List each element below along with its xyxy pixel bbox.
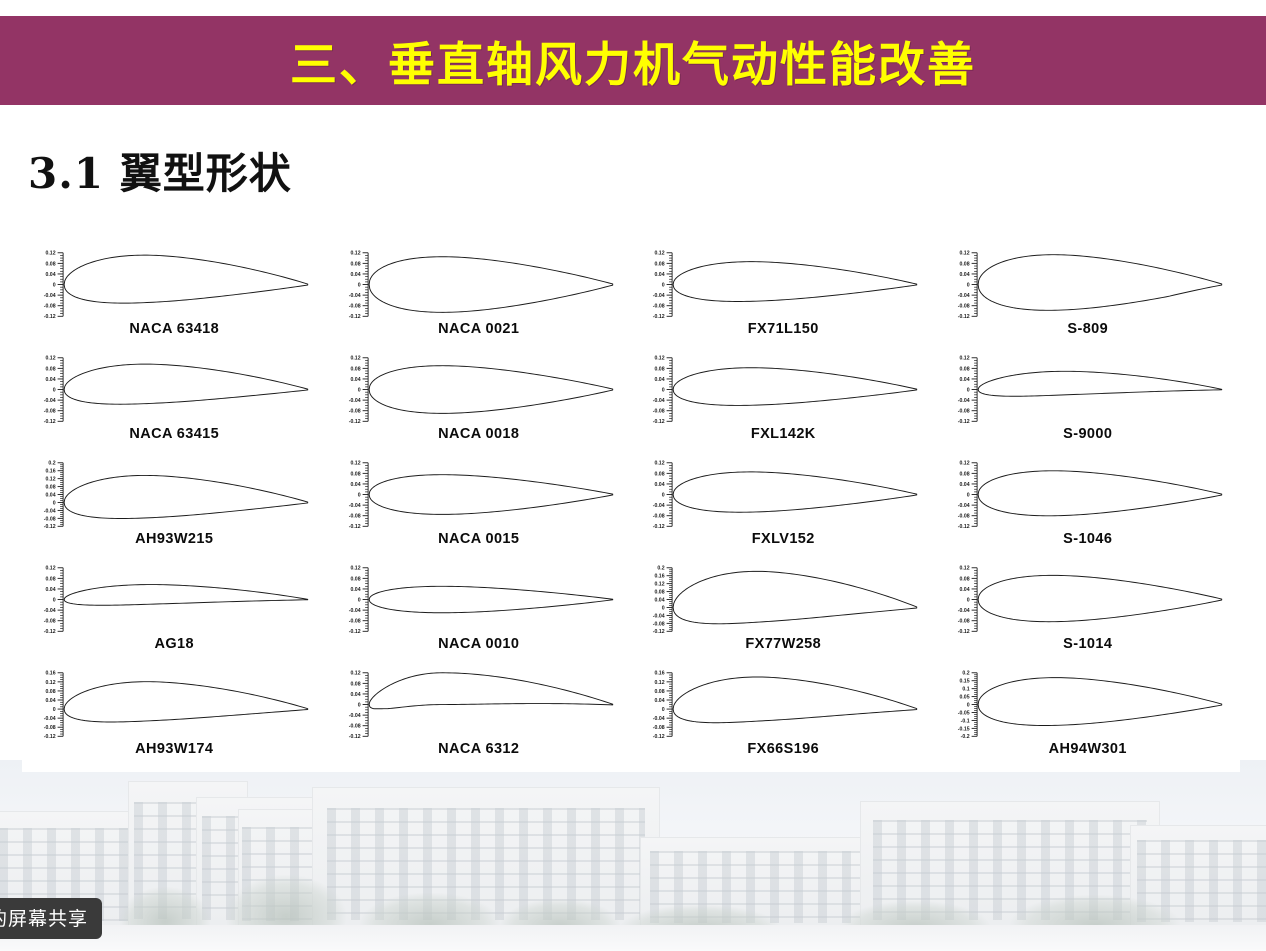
y-axis-tick-label: -0.12 [957,314,969,320]
airfoil-outline [673,571,917,623]
y-axis-tick-label: 0.08 [45,261,55,267]
y-axis-tick-label: -0.04 [44,508,56,514]
airfoil-name-label: AH93W174 [22,741,327,757]
y-axis-tick-label: 0.16 [45,671,55,677]
airfoil-outline [978,471,1222,516]
y-axis-tick-label: -0.04 [348,293,360,299]
y-axis-tick-label: 0 [966,387,969,393]
y-axis-tick-label: -0.04 [44,716,56,722]
y-axis-tick-label: -0.08 [653,725,665,731]
airfoil-name-label: FX77W258 [631,636,936,652]
y-axis-tick-label: 0.04 [654,482,664,488]
y-axis-tick-label: 0.12 [350,356,360,362]
y-axis-tick-label: 0.2 [657,566,664,572]
y-axis-tick-label: 0.04 [350,587,360,593]
y-axis-tick-label: 0.08 [654,589,664,595]
airfoil-outline [369,586,613,612]
y-axis-tick-label: -0.04 [44,608,56,614]
y-axis-tick-label: 0.08 [45,366,55,372]
airfoil-name-label: AG18 [22,636,327,652]
airfoil-outline [978,678,1222,726]
y-axis-tick-label: 0.08 [959,576,969,582]
y-axis-tick-label: -0.04 [653,293,665,299]
airfoil-plot: 0.20.160.120.080.040-0.04-0.08-0.12AH93W… [22,457,327,562]
y-axis-tick-label: 0.12 [959,566,969,572]
y-axis-tick-label: 0.08 [45,484,55,490]
y-axis-tick-label: -0.08 [44,409,56,415]
y-axis-tick-label: 0.08 [959,366,969,372]
y-axis-tick-label: -0.15 [957,726,969,732]
airfoil-name-label: NACA 0018 [327,426,632,442]
y-axis-tick-label: 0.12 [959,461,969,467]
y-axis-tick-label: -0.08 [957,304,969,310]
y-axis-tick-label: -0.05 [957,710,969,716]
y-axis-tick-label: -0.12 [653,629,665,635]
y-axis-tick-label: 0.12 [350,566,360,572]
y-axis-tick-label: 0.12 [654,582,664,588]
y-axis-tick-label: -0.04 [44,398,56,404]
airfoil-plot: 0.160.120.080.040-0.04-0.08-0.12AH93W174 [22,667,327,772]
y-axis-tick-label: -0.12 [348,629,360,635]
airfoil-outline [673,472,917,512]
y-axis-tick-label: 0.04 [959,587,969,593]
airfoil-name-label: S-1014 [936,636,1241,652]
airfoil-plot: 0.120.080.040-0.04-0.08-0.12AG18 [22,562,327,667]
y-axis-tick-label: -0.12 [44,629,56,635]
y-axis-tick-label: 0 [357,387,360,393]
y-axis-tick-label: -0.08 [44,304,56,310]
airfoil-name-label: AH94W301 [936,741,1241,757]
y-axis-tick-label: 0.04 [654,698,664,704]
y-axis-tick-label: -0.12 [44,524,56,530]
y-axis-tick-label: -0.12 [348,734,360,740]
y-axis-tick-label: 0 [53,282,56,288]
y-axis-tick-label: -0.12 [44,314,56,320]
y-axis-tick-label: -0.04 [653,398,665,404]
y-axis-tick-label: 0 [662,492,665,498]
y-axis-tick-label: 0.12 [45,477,55,483]
y-axis-tick-label: -0.08 [348,514,360,520]
y-axis-tick-label: -0.08 [348,724,360,730]
airfoil-name-label: FX66S196 [631,741,936,757]
y-axis-tick-label: -0.04 [348,398,360,404]
y-axis-tick-label: 0.08 [350,681,360,687]
y-axis-tick-label: 0.08 [45,576,55,582]
y-axis-tick-label: 0.04 [350,692,360,698]
airfoil-plot: 0.120.080.040-0.04-0.08-0.12FX71L150 [631,247,936,352]
y-axis-tick-label: 0 [357,282,360,288]
y-axis-tick-label: 0.08 [350,576,360,582]
y-axis-tick-label: -0.08 [44,619,56,625]
airfoil-outline [64,585,308,606]
airfoil-outline [978,371,1222,396]
y-axis-tick-label: 0 [662,707,665,713]
y-axis-tick-label: 0.12 [350,671,360,677]
y-axis-tick-label: 0.12 [45,680,55,686]
y-axis-tick-label: 0.04 [45,587,55,593]
y-axis-tick-label: -0.08 [957,619,969,625]
y-axis-tick-label: -0.04 [653,613,665,619]
y-axis-tick-label: -0.12 [44,734,56,740]
y-axis-tick-label: 0.12 [45,356,55,362]
y-axis-tick-label: 0.12 [959,251,969,257]
airfoil-name-label: NACA 63418 [22,321,327,337]
y-axis-tick-label: -0.04 [653,716,665,722]
y-axis-tick-label: 0 [966,702,969,708]
y-axis-tick-label: 0.08 [654,689,664,695]
screen-share-indicator: 电的屏幕共享 [0,898,102,939]
slide-title-banner: 三、垂直轴风力机气动性能改善 [0,16,1266,105]
airfoil-plot: 0.120.080.040-0.04-0.08-0.12NACA 6312 [327,667,632,772]
y-axis-tick-label: 0 [53,597,56,603]
airfoil-plot: 0.120.080.040-0.04-0.08-0.12S-9000 [936,352,1241,457]
y-axis-tick-label: 0.05 [959,694,969,700]
y-axis-tick-label: -0.08 [653,409,665,415]
y-axis-tick-label: -0.08 [957,409,969,415]
airfoil-plot: 0.120.080.040-0.04-0.08-0.12S-1014 [936,562,1241,667]
y-axis-tick-label: -0.04 [348,503,360,509]
airfoil-outline [673,677,917,723]
airfoil-plot: 0.120.080.040-0.04-0.08-0.12NACA 0021 [327,247,632,352]
y-axis-tick-label: -0.04 [957,293,969,299]
airfoil-name-label: NACA 0015 [327,531,632,547]
campus-photo-background: 电的屏幕共享 [0,760,1266,951]
airfoil-plot: 0.120.080.040-0.04-0.08-0.12NACA 0010 [327,562,632,667]
airfoil-figure-panel: 0.120.080.040-0.04-0.08-0.12NACA 634180.… [22,247,1240,772]
airfoil-plot: 0.120.080.040-0.04-0.08-0.12NACA 63415 [22,352,327,457]
y-axis-tick-label: 0 [357,492,360,498]
y-axis-tick-label: -0.12 [653,524,665,530]
y-axis-tick-label: 0.08 [959,261,969,267]
airfoil-outline [369,673,613,709]
y-axis-tick-label: -0.12 [653,734,665,740]
y-axis-tick-label: -0.12 [653,314,665,320]
y-axis-tick-label: 0.15 [959,679,969,685]
y-axis-tick-label: -0.08 [348,409,360,415]
y-axis-tick-label: -0.08 [44,725,56,731]
y-axis-tick-label: 0.08 [45,689,55,695]
airfoil-plot: 0.120.080.040-0.04-0.08-0.12FXLV152 [631,457,936,562]
y-axis-tick-label: -0.08 [348,619,360,625]
y-axis-tick-label: 0.04 [654,597,664,603]
y-axis-tick-label: 0.04 [45,272,55,278]
y-axis-tick-label: 0 [53,707,56,713]
y-axis-tick-label: -0.04 [348,713,360,719]
airfoil-plot: 0.120.080.040-0.04-0.08-0.12NACA 0018 [327,352,632,457]
y-axis-tick-label: -0.08 [653,514,665,520]
airfoil-name-label: NACA 0021 [327,321,632,337]
y-axis-tick-label: -0.12 [957,524,969,530]
y-axis-tick-label: -0.04 [348,608,360,614]
airfoil-name-label: FX71L150 [631,321,936,337]
airfoil-plot: 0.20.160.120.080.040-0.04-0.08-0.12FX77W… [631,562,936,667]
y-axis-tick-label: -0.2 [960,734,969,740]
airfoil-plot: 0.160.120.080.040-0.04-0.08-0.12FX66S196 [631,667,936,772]
y-axis-tick-label: 0.08 [654,261,664,267]
airfoil-name-label: FXLV152 [631,531,936,547]
airfoil-plot: 0.120.080.040-0.04-0.08-0.12NACA 0015 [327,457,632,562]
ground-strip [0,925,1266,951]
airfoil-name-label: S-1046 [936,531,1241,547]
airfoil-name-label: NACA 6312 [327,741,632,757]
y-axis-tick-label: 0.12 [350,251,360,257]
airfoil-plot: 0.20.150.10.050-0.05-0.1-0.15-0.2AH94W30… [936,667,1241,772]
y-axis-tick-label: 0.12 [654,251,664,257]
y-axis-tick-label: 0.08 [654,366,664,372]
y-axis-tick-label: 0.16 [654,574,664,580]
y-axis-tick-label: 0.2 [48,461,55,467]
y-axis-tick-label: -0.12 [653,419,665,425]
airfoil-outline [64,255,308,303]
y-axis-tick-label: 0.08 [350,366,360,372]
y-axis-tick-label: 0.12 [654,461,664,467]
airfoil-outline [673,262,917,302]
page-title: 三、垂直轴风力机气动性能改善 [290,26,976,95]
y-axis-tick-label: 0.04 [654,272,664,278]
y-axis-tick-label: 0 [966,492,969,498]
y-axis-tick-label: 0.12 [350,461,360,467]
y-axis-tick-label: 0 [662,387,665,393]
y-axis-tick-label: -0.08 [957,514,969,520]
airfoil-plot: 0.120.080.040-0.04-0.08-0.12S-1046 [936,457,1241,562]
y-axis-tick-label: -0.04 [44,293,56,299]
airfoil-outline [64,475,308,518]
y-axis-tick-label: 0.2 [962,671,969,677]
y-axis-tick-label: 0.04 [654,377,664,383]
airfoil-outline [369,475,613,515]
y-axis-tick-label: 0.04 [45,492,55,498]
y-axis-tick-label: 0.08 [654,471,664,477]
airfoil-outline [369,366,613,414]
y-axis-tick-label: -0.08 [653,621,665,627]
y-axis-tick-label: 0.04 [45,377,55,383]
y-axis-tick-label: 0 [357,702,360,708]
airfoil-outline [673,368,917,406]
section-heading: 3.1 翼型形状 [28,140,292,201]
y-axis-tick-label: -0.12 [957,629,969,635]
y-axis-tick-label: 0.12 [654,680,664,686]
y-axis-tick-label: -0.12 [348,524,360,530]
airfoil-name-label: NACA 63415 [22,426,327,442]
y-axis-tick-label: 0.12 [654,356,664,362]
y-axis-tick-label: -0.08 [348,304,360,310]
y-axis-tick-label: 0 [966,282,969,288]
y-axis-tick-label: -0.08 [653,304,665,310]
y-axis-tick-label: 0.12 [959,356,969,362]
y-axis-tick-label: -0.12 [44,419,56,425]
y-axis-tick-label: 0 [53,500,56,506]
y-axis-tick-label: 0 [662,282,665,288]
airfoil-outline [369,257,613,313]
airfoil-grid: 0.120.080.040-0.04-0.08-0.12NACA 634180.… [22,247,1240,772]
airfoil-outline [978,255,1222,311]
y-axis-tick-label: 0 [357,597,360,603]
airfoil-plot: 0.120.080.040-0.04-0.08-0.12S-809 [936,247,1241,352]
airfoil-outline [978,575,1222,621]
y-axis-tick-label: 0.16 [45,469,55,475]
y-axis-tick-label: -0.04 [957,608,969,614]
y-axis-tick-label: -0.12 [348,314,360,320]
airfoil-name-label: S-809 [936,321,1241,337]
y-axis-tick-label: 0.08 [350,261,360,267]
y-axis-tick-label: -0.04 [957,398,969,404]
y-axis-tick-label: -0.08 [44,516,56,522]
y-axis-tick-label: -0.12 [957,419,969,425]
y-axis-tick-label: -0.1 [960,718,969,724]
airfoil-outline [64,364,308,404]
y-axis-tick-label: 0.04 [959,377,969,383]
y-axis-tick-label: 0.04 [959,482,969,488]
y-axis-tick-label: 0.16 [654,671,664,677]
y-axis-tick-label: 0.04 [959,272,969,278]
y-axis-tick-label: 0.1 [962,687,969,693]
airfoil-outline [64,682,308,722]
y-axis-tick-label: 0.04 [350,482,360,488]
airfoil-plot: 0.120.080.040-0.04-0.08-0.12FXL142K [631,352,936,457]
y-axis-tick-label: 0.04 [350,377,360,383]
airfoil-name-label: AH93W215 [22,531,327,547]
y-axis-tick-label: 0.08 [959,471,969,477]
airfoil-name-label: FXL142K [631,426,936,442]
airfoil-plot: 0.120.080.040-0.04-0.08-0.12NACA 63418 [22,247,327,352]
y-axis-tick-label: -0.04 [653,503,665,509]
y-axis-tick-label: 0.04 [45,698,55,704]
y-axis-tick-label: 0 [966,597,969,603]
y-axis-tick-label: -0.04 [957,503,969,509]
y-axis-tick-label: 0 [53,387,56,393]
y-axis-tick-label: 0.12 [45,566,55,572]
airfoil-name-label: S-9000 [936,426,1241,442]
y-axis-tick-label: 0.08 [350,471,360,477]
y-axis-tick-label: 0.12 [45,251,55,257]
y-axis-tick-label: -0.12 [348,419,360,425]
y-axis-tick-label: 0 [662,605,665,611]
airfoil-name-label: NACA 0010 [327,636,632,652]
y-axis-tick-label: 0.04 [350,272,360,278]
